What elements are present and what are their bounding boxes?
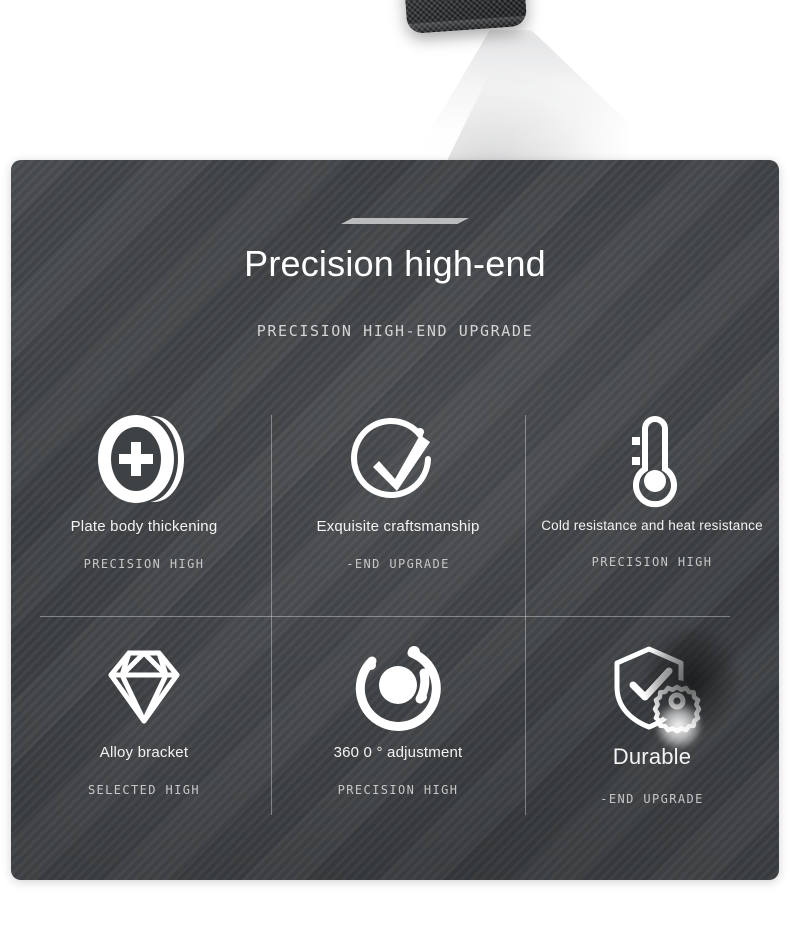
layered-coin-plus-icon (17, 400, 271, 518)
feature-subtitle: PRECISION HIGH (17, 557, 271, 571)
shield-check-gear-icon (525, 626, 779, 744)
carbon-fiber-product-corner-icon (401, 0, 528, 34)
hero-section (0, 0, 790, 160)
feature-title: Cold resistance and heat resistance (525, 518, 779, 533)
feature-subtitle: PRECISION HIGH (525, 555, 779, 569)
feature-title: Plate body thickening (17, 518, 271, 535)
page-title: Precision high-end (11, 242, 779, 285)
feature-item-durable[interactable]: Durable -END UPGRADE (525, 626, 779, 806)
feature-grid: Plate body thickening PRECISION HIGH Exq… (11, 390, 779, 820)
feature-subtitle: SELECTED HIGH (17, 783, 271, 797)
feature-item-360-adjustment[interactable]: 360 0 ° adjustment PRECISION HIGH (271, 626, 525, 797)
grid-divider-horizontal (40, 616, 730, 617)
feature-item-alloy-bracket[interactable]: Alloy bracket SELECTED HIGH (17, 626, 271, 797)
page-subtitle: PRECISION HIGH-END UPGRADE (11, 322, 779, 340)
product-shadow-plume-icon (398, 30, 628, 160)
accent-bar (341, 218, 469, 224)
diamond-icon (17, 626, 271, 744)
feature-subtitle: PRECISION HIGH (271, 783, 525, 797)
feature-card: Precision high-end PRECISION HIGH-END UP… (11, 160, 779, 880)
feature-item-exquisite-craftsmanship[interactable]: Exquisite craftsmanship -END UPGRADE (271, 400, 525, 571)
feature-title: Durable (525, 744, 779, 770)
thermometer-icon (525, 400, 779, 518)
check-circle-brush-icon (271, 400, 525, 518)
feature-subtitle: -END UPGRADE (525, 792, 779, 806)
feature-title: Exquisite craftsmanship (271, 518, 525, 535)
rotation-orbit-icon (271, 626, 525, 744)
feature-title: Alloy bracket (17, 744, 271, 761)
feature-subtitle: -END UPGRADE (271, 557, 525, 571)
feature-title: 360 0 ° adjustment (271, 744, 525, 761)
feature-item-cold-heat-resistance[interactable]: Cold resistance and heat resistance PREC… (525, 400, 779, 569)
feature-item-plate-body-thickening[interactable]: Plate body thickening PRECISION HIGH (17, 400, 271, 571)
